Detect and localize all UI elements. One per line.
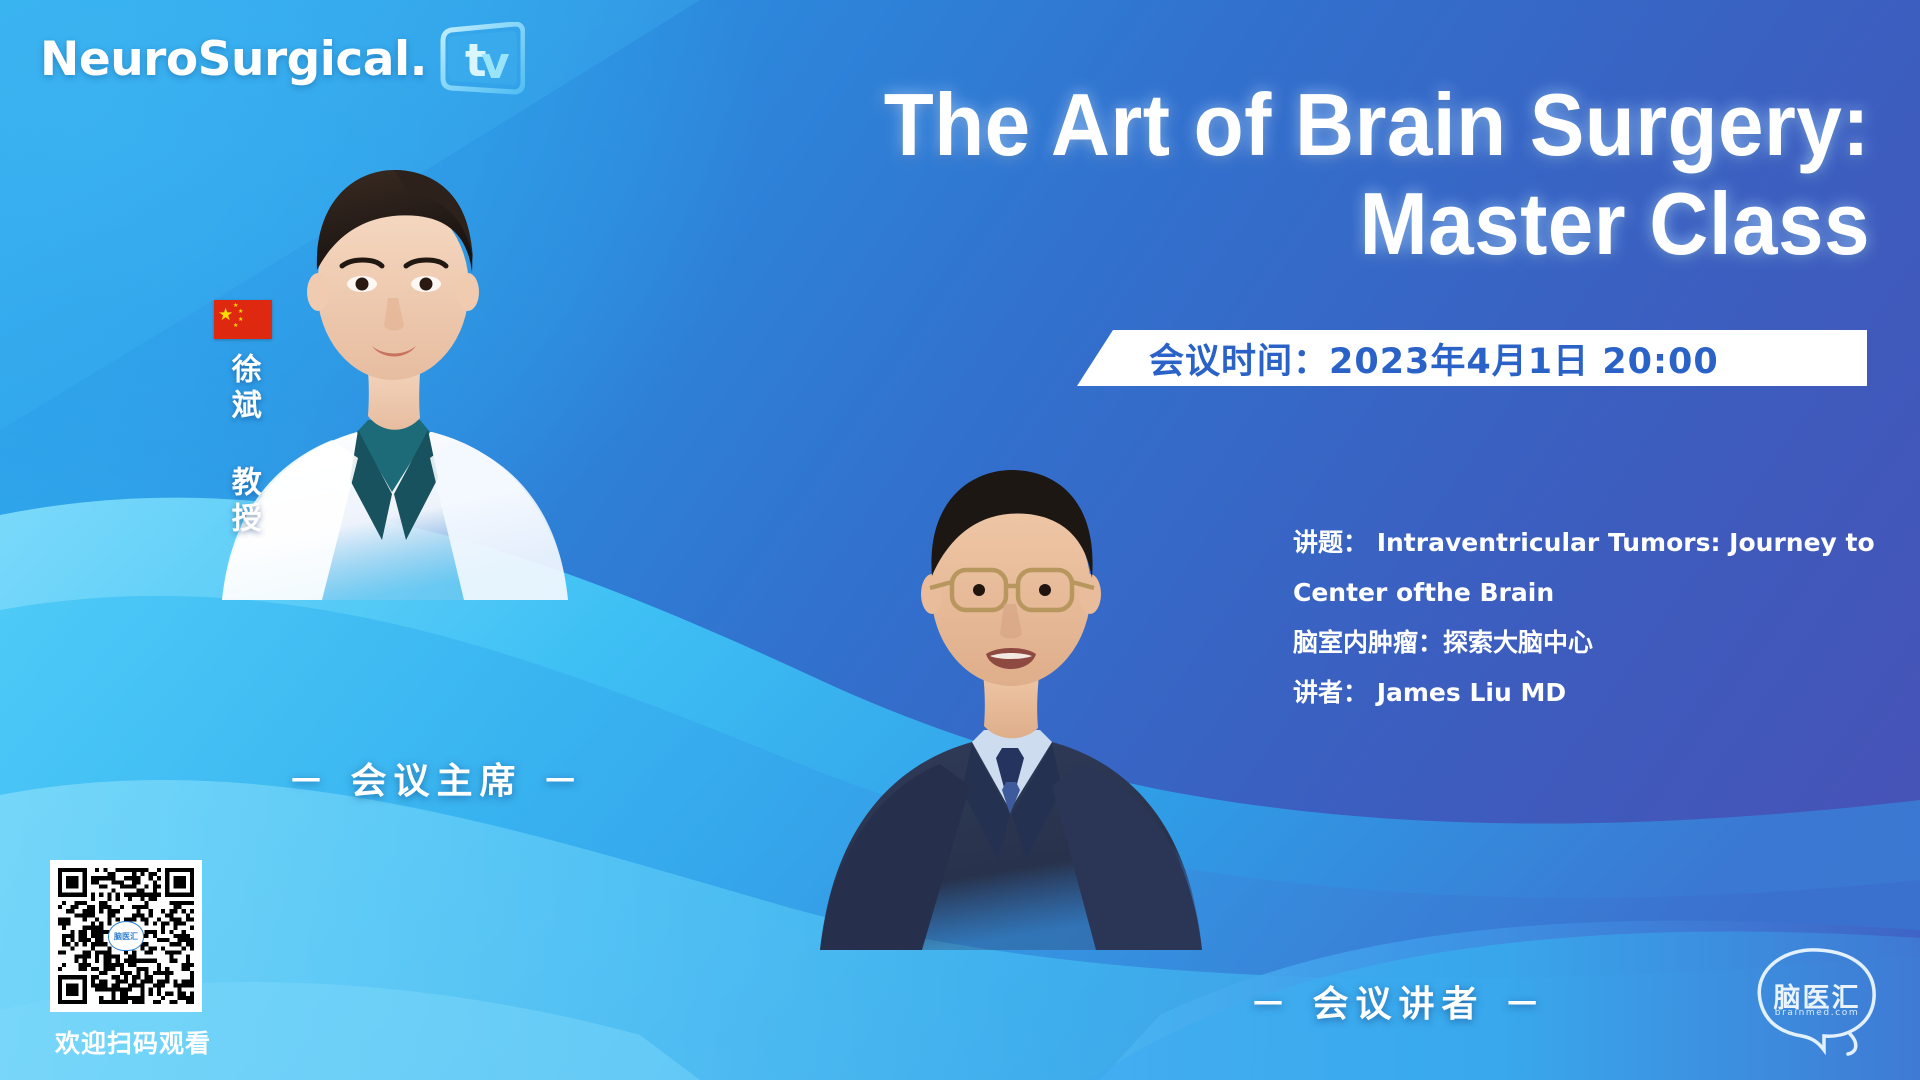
logo-wordmark: NeuroSurgical. <box>40 32 427 87</box>
qr-code[interactable]: 脑医汇 <box>50 860 202 1012</box>
speaker-role-label: － 会议讲者 － <box>1250 975 1547 1027</box>
talk-info-block: 讲题： Intraventricular Tumors: Journey to … <box>1293 518 1893 718</box>
title-line-1: The Art of Brain Surgery: <box>661 75 1870 174</box>
tv-icon: t v <box>437 22 525 96</box>
brainmed-logo[interactable]: 脑医汇 brainmed.com <box>1732 938 1892 1058</box>
qr-caption: 欢迎扫码观看 <box>38 1024 228 1060</box>
chair-name-block: ★ ★ ★ ★ ★ 徐斌 教授 <box>214 300 272 538</box>
china-flag-icon: ★ ★ ★ ★ ★ <box>214 300 272 339</box>
qr-center-logo: 脑医汇 <box>108 921 144 951</box>
poster-canvas: NeuroSurgical. t v The Art of Brain Surg… <box>0 0 1920 1080</box>
meeting-time-text: 会议时间：2023年4月1日 20:00 <box>1149 333 1719 384</box>
chair-role-label: － 会议主席 － <box>288 752 585 804</box>
meeting-time-banner: 会议时间：2023年4月1日 20:00 <box>1077 330 1867 386</box>
qr-block: 脑医汇 欢迎扫码观看 <box>38 860 228 1060</box>
speaker-portrait <box>790 390 1230 950</box>
chair-name-text: 徐斌 教授 <box>224 353 262 538</box>
svg-text:v: v <box>481 38 510 89</box>
title-line-2: Master Class <box>661 174 1870 273</box>
talk-topic-line-1: 讲题： Intraventricular Tumors: Journey to <box>1293 518 1893 568</box>
site-logo[interactable]: NeuroSurgical. t v <box>40 22 525 96</box>
talk-topic-chinese: 脑室内肿瘤：探索大脑中心 <box>1293 618 1893 668</box>
talk-topic-line-2: Center ofthe Brain <box>1293 568 1893 618</box>
talk-speaker-name: 讲者： James Liu MD <box>1293 668 1893 718</box>
page-title: The Art of Brain Surgery: Master Class <box>570 75 1870 274</box>
brand-domain: brainmed.com <box>1762 1008 1872 1018</box>
